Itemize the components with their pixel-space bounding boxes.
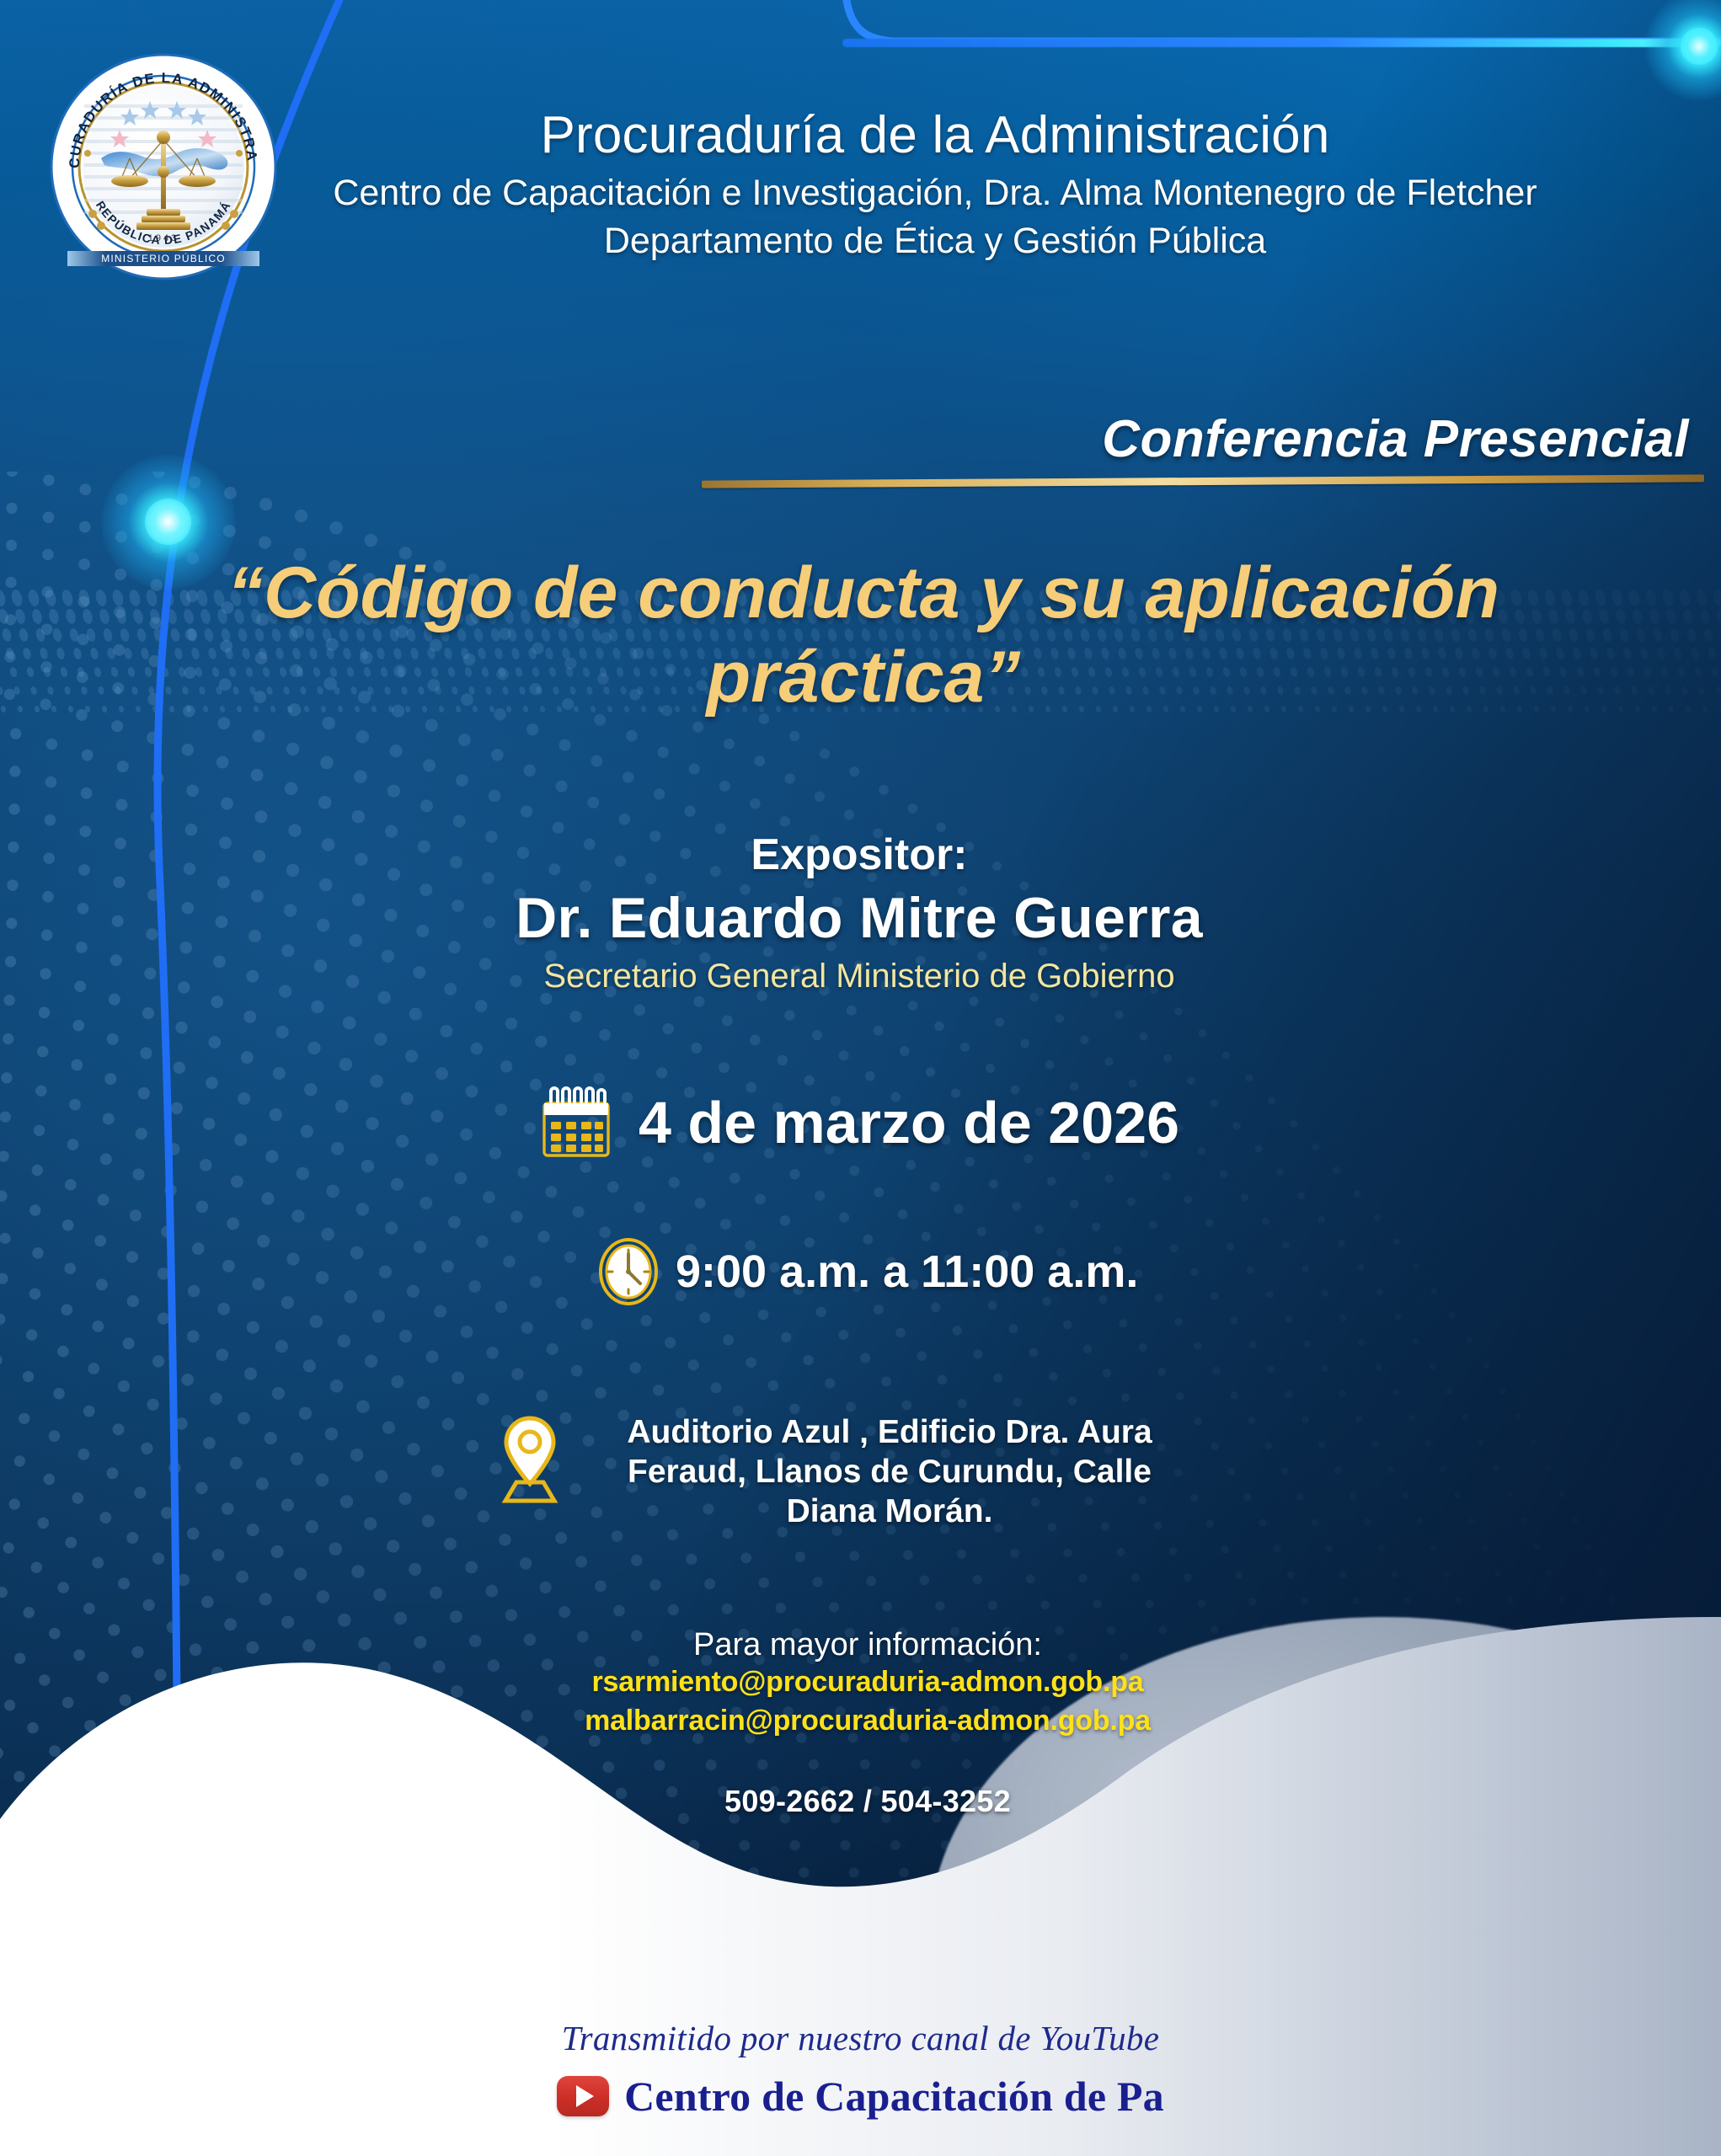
event-time: 9:00 a.m. a 11:00 a.m. bbox=[676, 1246, 1138, 1298]
map-pin-icon bbox=[494, 1413, 566, 1506]
contact-email-2[interactable]: malbarracin@procuraduria-admon.gob.pa bbox=[354, 1702, 1382, 1741]
center-name: Centro de Capacitación e Investigación, … bbox=[278, 171, 1592, 215]
youtube-channel-row[interactable]: Centro de Capacitación de Pa bbox=[0, 2072, 1721, 2121]
department-name: Departamento de Ética y Gestión Pública bbox=[278, 219, 1592, 263]
header-text-block: Procuraduría de la Administración Centro… bbox=[278, 106, 1592, 263]
event-type-label: Conferencia Presencial bbox=[643, 409, 1704, 469]
date-row: 4 de marzo de 2026 bbox=[539, 1083, 1179, 1162]
time-row: 9:00 a.m. a 11:00 a.m. bbox=[596, 1236, 1138, 1307]
cyan-glow-core-topright bbox=[1681, 28, 1718, 65]
contact-email-1[interactable]: rsarmiento@procuraduria-admon.gob.pa bbox=[354, 1663, 1382, 1702]
speaker-name: Dr. Eduardo Mitre Guerra bbox=[253, 885, 1466, 951]
organization-title: Procuraduría de la Administración bbox=[278, 106, 1592, 164]
footer-block: Transmitido por nuestro canal de YouTube… bbox=[0, 2018, 1721, 2121]
poster-canvas: 1943 MINISTERIO PÚBLICO PROCURADURÍA DE … bbox=[0, 0, 1721, 2156]
top-accent-line bbox=[842, 39, 1721, 47]
youtube-channel-name[interactable]: Centro de Capacitación de Pa bbox=[624, 2072, 1164, 2121]
contact-block: Para mayor información: rsarmiento@procu… bbox=[354, 1627, 1382, 1740]
broadcast-note: Transmitido por nuestro canal de YouTube bbox=[0, 2018, 1721, 2058]
contact-phones[interactable]: 509-2662 / 504-3252 bbox=[354, 1784, 1382, 1819]
contact-label: Para mayor información: bbox=[354, 1627, 1382, 1663]
clock-icon bbox=[596, 1236, 660, 1307]
svg-text:MINISTERIO PÚBLICO: MINISTERIO PÚBLICO bbox=[101, 252, 226, 264]
play-triangle-icon bbox=[576, 2085, 594, 2107]
speaker-role: Secretario General Ministerio de Gobiern… bbox=[253, 958, 1466, 995]
location-row: Auditorio Azul , Edificio Dra. Aura Fera… bbox=[494, 1413, 1184, 1531]
institution-seal-logo: 1943 MINISTERIO PÚBLICO PROCURADURÍA DE … bbox=[49, 52, 278, 281]
page-title: “Código de conducta y su aplicación prác… bbox=[135, 552, 1592, 720]
calendar-icon bbox=[539, 1083, 613, 1162]
event-location: Auditorio Azul , Edificio Dra. Aura Fera… bbox=[595, 1413, 1184, 1531]
cyan-glow-core-left bbox=[145, 499, 191, 545]
event-type-block: Conferencia Presencial bbox=[643, 409, 1704, 485]
youtube-play-icon[interactable] bbox=[557, 2076, 609, 2116]
speaker-label: Expositor: bbox=[253, 830, 1466, 880]
speaker-block: Expositor: Dr. Eduardo Mitre Guerra Secr… bbox=[253, 830, 1466, 995]
event-date: 4 de marzo de 2026 bbox=[639, 1089, 1179, 1156]
